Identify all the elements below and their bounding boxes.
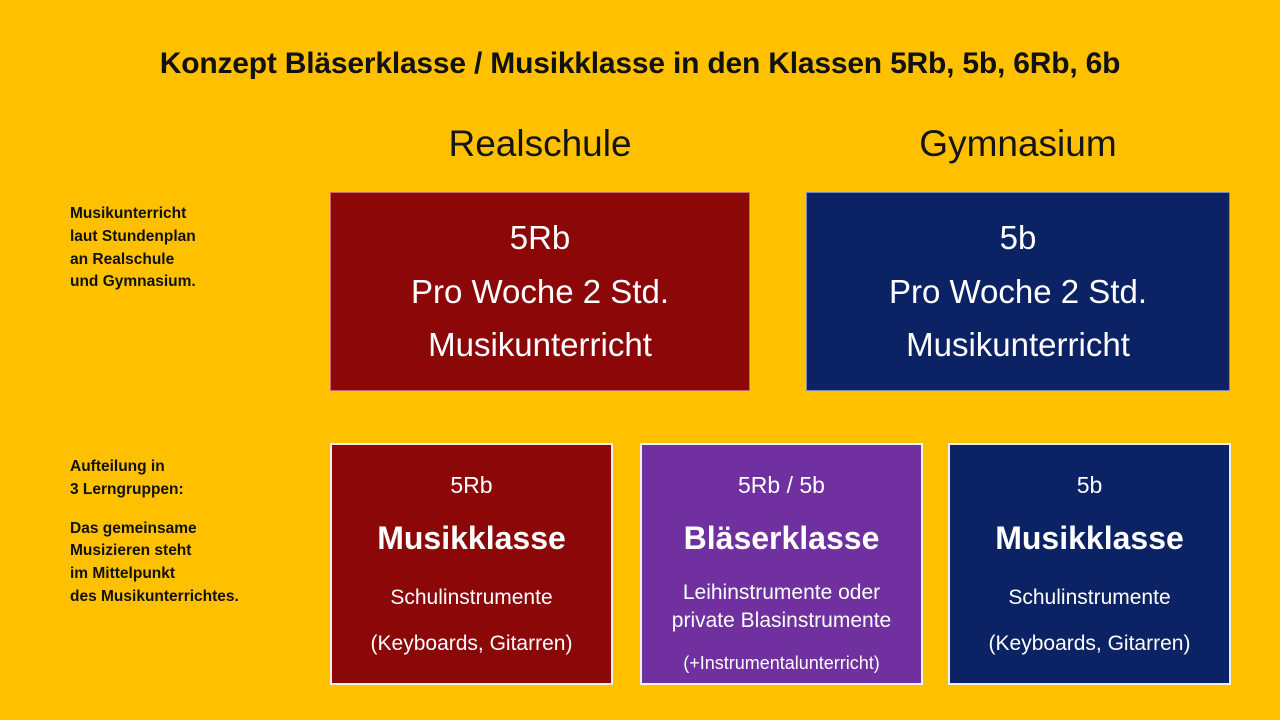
- gymnasium-class-id: 5b: [1000, 211, 1037, 264]
- side-note-spacer: [70, 502, 335, 518]
- side-note-2-line-6: des Musikunterrichtes.: [70, 586, 335, 609]
- box-lerngruppe-musikklasse-5rb: 5Rb Musikklasse Schulinstrumente (Keyboa…: [330, 443, 613, 685]
- side-note-2-line-1: Aufteilung in: [70, 456, 335, 479]
- group-1-class-id: 5Rb: [450, 472, 492, 500]
- side-note-aufteilung: Aufteilung in 3 Lerngruppen: Das gemeins…: [70, 456, 335, 609]
- side-note-1-line-3: an Realschule: [70, 249, 335, 272]
- box-lerngruppe-blaeserklasse: 5Rb / 5b Bläserklasse Leihinstrumente od…: [640, 443, 923, 685]
- side-note-2-line-4: Musizieren steht: [70, 540, 335, 563]
- group-2-detail-2: (+Instrumentalunterricht): [683, 652, 880, 675]
- box-gymnasium-musikunterricht: 5b Pro Woche 2 Std. Musikunterricht: [806, 192, 1230, 391]
- side-note-2-line-5: im Mittelpunkt: [70, 563, 335, 586]
- realschule-class-id: 5Rb: [510, 211, 571, 264]
- side-note-1-line-4: und Gymnasium.: [70, 271, 335, 294]
- group-3-detail-2: (Keyboards, Gitarren): [989, 630, 1191, 658]
- group-2-class-id: 5Rb / 5b: [738, 472, 825, 500]
- gymnasium-subject: Musikunterricht: [906, 318, 1130, 371]
- page-title: Konzept Bläserklasse / Musikklasse in de…: [0, 47, 1280, 81]
- group-3-class-id: 5b: [1077, 472, 1103, 500]
- side-note-2-line-3: Das gemeinsame: [70, 518, 335, 541]
- realschule-subject: Musikunterricht: [428, 318, 652, 371]
- side-note-2-line-2: 3 Lerngruppen:: [70, 479, 335, 502]
- side-note-1-line-2: laut Stundenplan: [70, 226, 335, 249]
- box-lerngruppe-musikklasse-5b: 5b Musikklasse Schulinstrumente (Keyboar…: [948, 443, 1231, 685]
- side-note-1-line-1: Musikunterricht: [70, 203, 335, 226]
- gymnasium-hours: Pro Woche 2 Std.: [889, 265, 1147, 318]
- group-1-detail-2: (Keyboards, Gitarren): [371, 630, 573, 658]
- group-3-detail-1: Schulinstrumente: [1008, 584, 1170, 612]
- column-header-gymnasium: Gymnasium: [806, 123, 1230, 165]
- group-1-name: Musikklasse: [377, 519, 566, 557]
- group-2-name: Bläserklasse: [684, 519, 880, 557]
- realschule-hours: Pro Woche 2 Std.: [411, 265, 669, 318]
- group-2-detail-1: Leihinstrumente oder private Blasinstrum…: [650, 579, 913, 636]
- group-3-name: Musikklasse: [995, 519, 1184, 557]
- slide-canvas: Konzept Bläserklasse / Musikklasse in de…: [0, 0, 1280, 720]
- group-1-detail-1: Schulinstrumente: [390, 584, 552, 612]
- column-header-realschule: Realschule: [330, 123, 750, 165]
- box-realschule-musikunterricht: 5Rb Pro Woche 2 Std. Musikunterricht: [330, 192, 750, 391]
- side-note-musikunterricht: Musikunterricht laut Stundenplan an Real…: [70, 203, 335, 294]
